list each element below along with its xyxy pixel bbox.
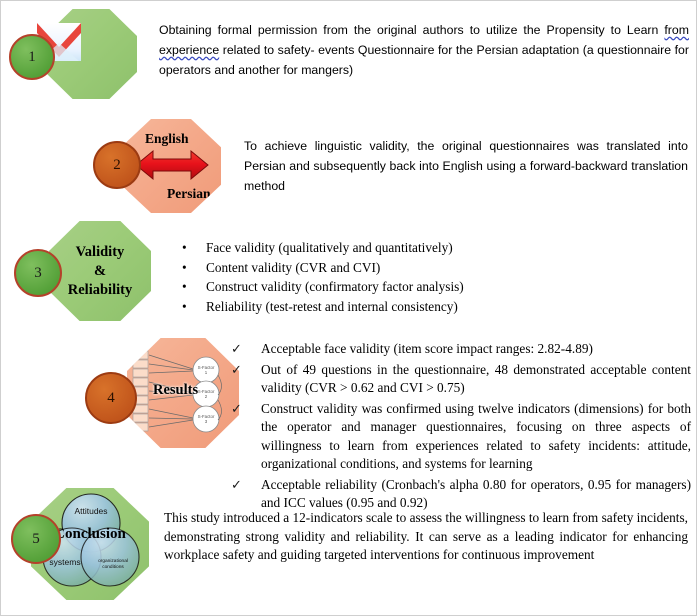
svg-text:Attitudes: Attitudes [74,506,107,516]
check-icon: ✓ [231,476,242,495]
list-item: ✓ Construct validity was confirmed using… [229,400,691,474]
step-3-label: Validity & Reliability [68,243,132,300]
step-1-number: 1 [9,34,55,80]
bullet-icon: • [182,298,187,317]
step-3-label-line1: Validity [68,243,132,262]
list-item-label: Out of 49 questions in the questionnaire… [261,362,691,396]
step-3-bullet-list: • Face validity (qualitatively and quant… [174,239,574,317]
step-4-check-list: ✓ Acceptable face validity (item score i… [229,340,691,515]
step-5-text: This study introduced a 12-indicators sc… [164,509,688,565]
list-item-label: Acceptable face validity (item score imp… [261,341,593,356]
check-icon: ✓ [231,400,242,419]
list-item-label: Construct validity was confirmed using t… [261,401,691,472]
list-item: • Reliability (test-retest and internal … [174,298,574,317]
check-icon: ✓ [231,340,242,359]
step-2-number: 2 [93,141,141,189]
step-4-label: Results [153,382,198,399]
bullet-icon: • [182,239,187,258]
step-2-text: To achieve linguistic validity, the orig… [244,136,688,196]
step-1-text-a: Obtaining formal permission from the ori… [159,23,664,37]
list-item-label: Reliability (test-retest and internal co… [206,299,458,314]
list-item-label: Content validity (CVR and CVI) [206,260,380,275]
list-item: ✓ Acceptable reliability (Cronbach's alp… [229,476,691,513]
svg-text:organizational: organizational [98,558,128,564]
step-5-number: 5 [11,514,61,564]
diagram-canvas: 1 Obtaining formal permission from the o… [0,0,697,616]
step-2-label-english: English [145,131,189,147]
list-item: ✓ Out of 49 questions in the questionnai… [229,361,691,398]
svg-text:conditions: conditions [102,564,124,570]
svg-text:systems: systems [49,557,80,567]
step-4-number: 4 [85,372,137,424]
step-3-label-line2: & [68,262,132,281]
list-item: • Construct validity (confirmatory facto… [174,278,574,297]
step-3-octagon: Validity & Reliability [49,221,151,321]
list-item-label: Face validity (qualitatively and quantit… [206,240,453,255]
list-item: • Face validity (qualitatively and quant… [174,239,574,258]
step-4-octagon: S-Factor 1 S-Factor 2 S-Factor 3 Results [127,338,239,448]
step-1-text: Obtaining formal permission from the ori… [159,20,689,80]
bullet-icon: • [182,259,187,278]
step-2-label-persian: Persian [167,186,211,202]
step-3-label-line3: Reliability [68,281,132,300]
list-item-label: Acceptable reliability (Cronbach's alpha… [261,477,691,511]
bullet-icon: • [182,278,187,297]
list-item: • Content validity (CVR and CVI) [174,259,574,278]
check-icon: ✓ [231,361,242,380]
double-headed-arrow-icon [135,148,209,187]
list-item: ✓ Acceptable face validity (item score i… [229,340,691,359]
step-1-text-b: related to safety- events Questionnaire … [159,43,689,77]
list-item-label: Construct validity (confirmatory factor … [206,279,464,294]
step-3-number: 3 [14,249,62,297]
